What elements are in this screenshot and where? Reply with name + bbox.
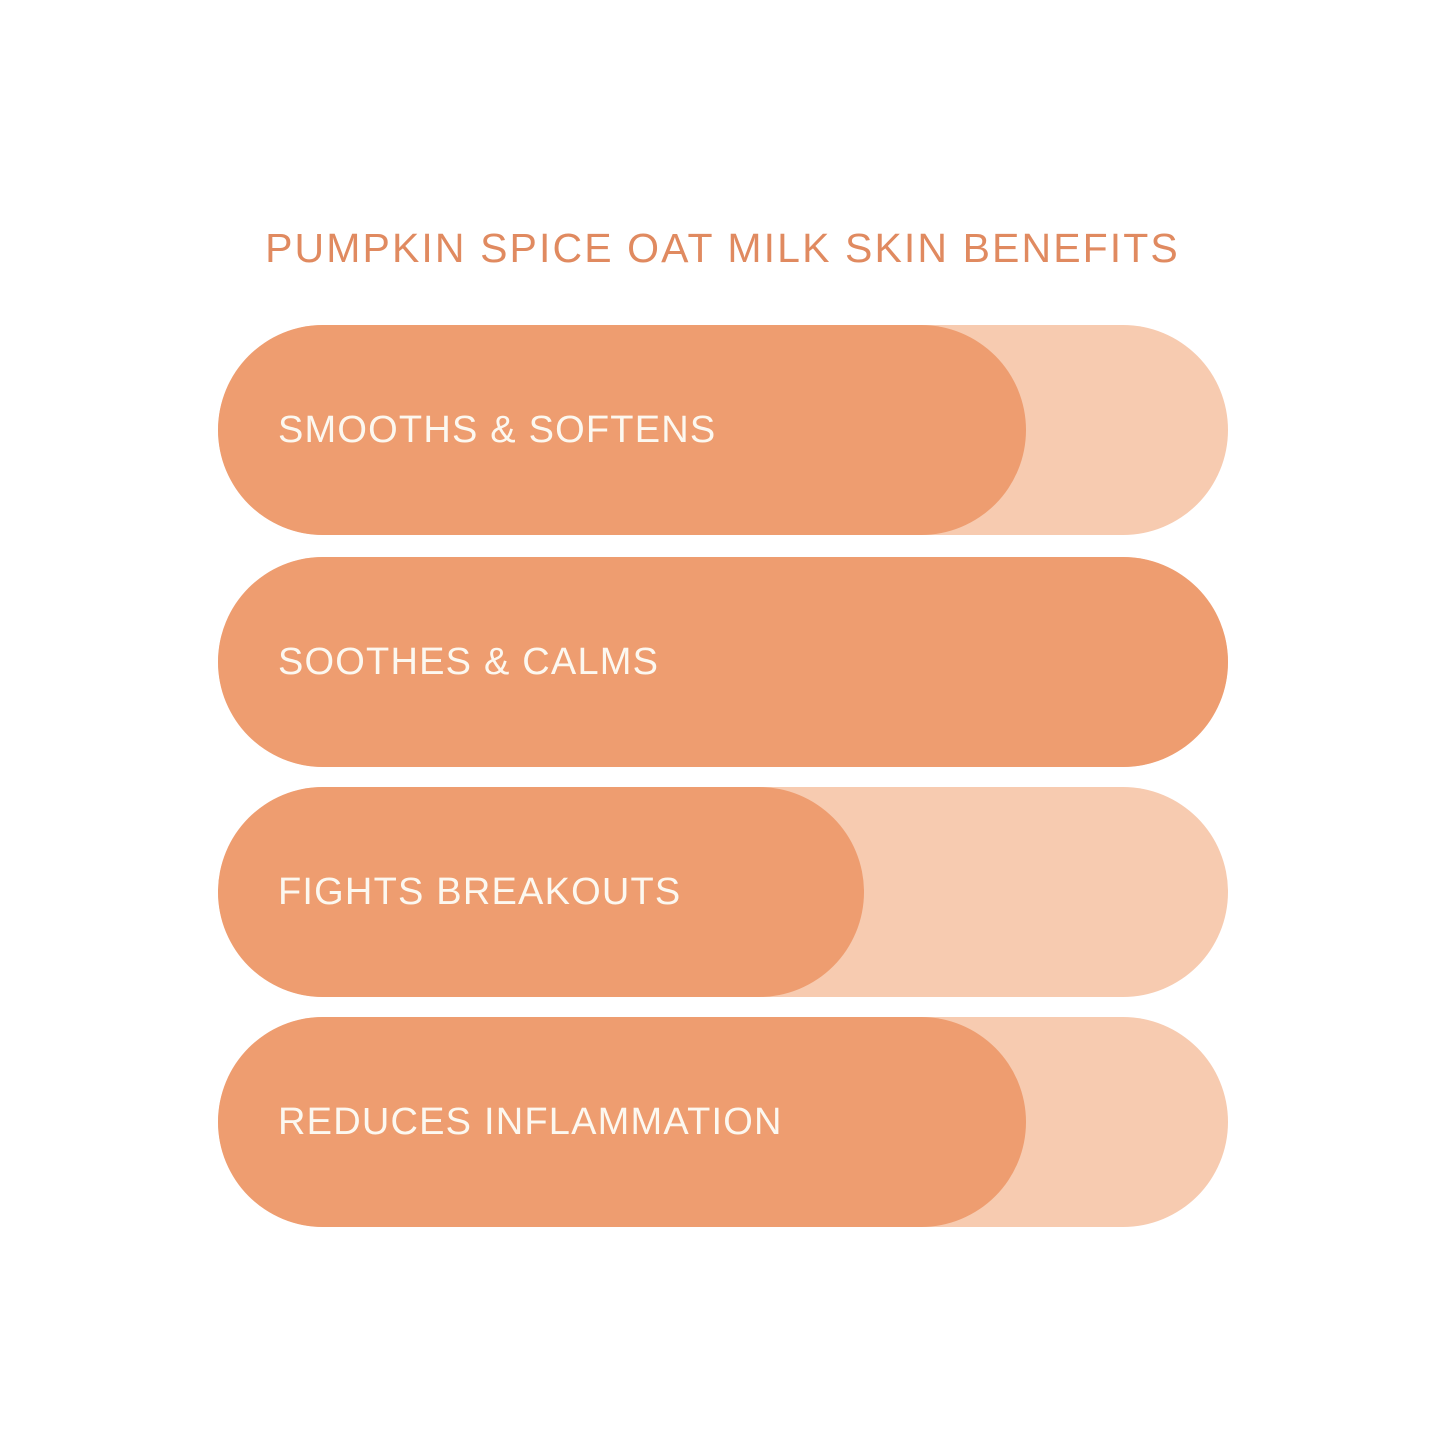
bar-label: FIGHTS BREAKOUTS — [278, 787, 681, 997]
page-title: PUMPKIN SPICE OAT MILK SKIN BENEFITS — [0, 225, 1445, 271]
benefit-bar-row: SMOOTHS & SOFTENS — [218, 325, 1228, 535]
benefit-bar-row: FIGHTS BREAKOUTS — [218, 787, 1228, 997]
benefit-bar-list: SMOOTHS & SOFTENS SOOTHES & CALMS FIGHTS… — [218, 325, 1228, 1225]
bar-label: SOOTHES & CALMS — [278, 557, 659, 767]
benefit-bar-row: REDUCES INFLAMMATION — [218, 1017, 1228, 1227]
benefits-infographic: PUMPKIN SPICE OAT MILK SKIN BENEFITS SMO… — [0, 0, 1445, 1445]
bar-label: REDUCES INFLAMMATION — [278, 1017, 783, 1227]
bar-label: SMOOTHS & SOFTENS — [278, 325, 716, 535]
benefit-bar-row: SOOTHES & CALMS — [218, 557, 1228, 767]
